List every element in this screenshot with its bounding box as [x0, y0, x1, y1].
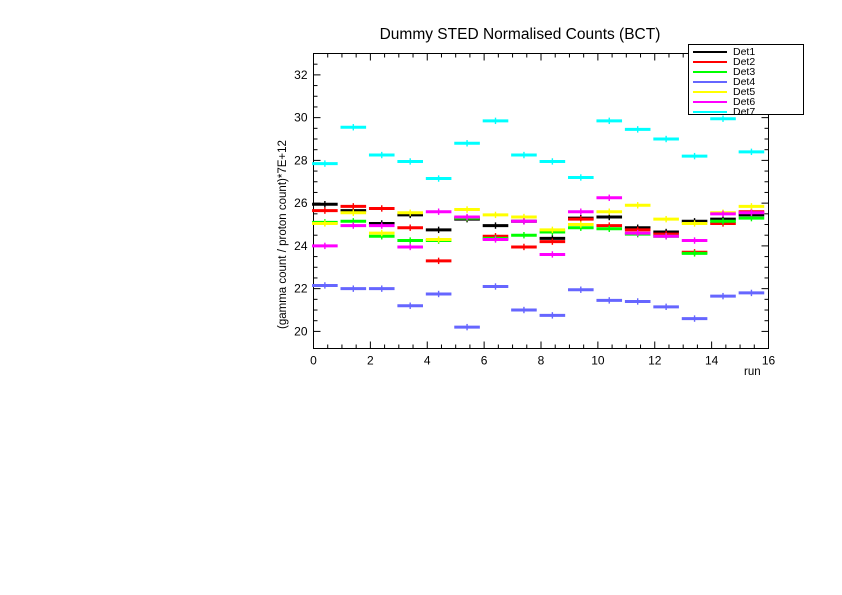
svg-text:10: 10 — [591, 354, 605, 368]
legend-swatch-icon — [693, 91, 727, 93]
series-det4 — [312, 282, 764, 330]
data-points — [312, 115, 764, 330]
series-det6 — [312, 195, 764, 258]
legend-swatch-icon — [693, 61, 727, 63]
svg-text:26: 26 — [294, 196, 308, 210]
legend-entry-det7[interactable]: Det7 — [689, 107, 803, 117]
svg-text:6: 6 — [481, 354, 488, 368]
legend-swatch-icon — [693, 101, 727, 103]
svg-text:0: 0 — [310, 354, 317, 368]
series-det7 — [312, 115, 764, 181]
legend[interactable]: Det1Det2Det3Det4Det5Det6Det7 — [688, 44, 804, 115]
svg-text:14: 14 — [705, 354, 719, 368]
svg-text:28: 28 — [294, 153, 308, 167]
svg-text:4: 4 — [424, 354, 431, 368]
svg-text:22: 22 — [294, 282, 308, 296]
svg-text:30: 30 — [294, 111, 308, 125]
legend-swatch-icon — [693, 51, 727, 53]
svg-text:32: 32 — [294, 68, 308, 82]
legend-label: Det7 — [733, 107, 755, 117]
legend-swatch-icon — [693, 81, 727, 83]
svg-text:2: 2 — [367, 354, 374, 368]
root-canvas: Dummy STED Normalised Counts (BCT) (gamm… — [0, 0, 842, 595]
legend-swatch-icon — [693, 71, 727, 73]
svg-text:24: 24 — [294, 239, 308, 253]
svg-text:12: 12 — [648, 354, 662, 368]
svg-text:8: 8 — [538, 354, 545, 368]
svg-text:16: 16 — [762, 354, 776, 368]
legend-swatch-icon — [693, 111, 727, 113]
svg-text:20: 20 — [294, 324, 308, 338]
